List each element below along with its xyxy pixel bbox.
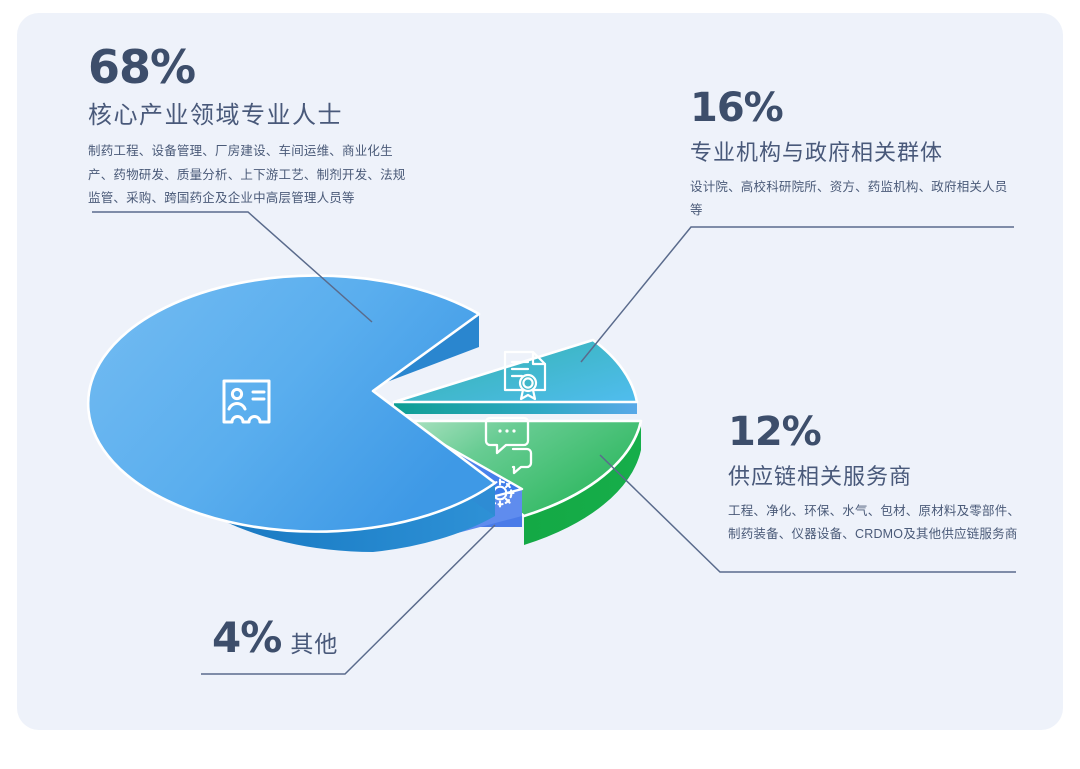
callout-other: 4% 其他 bbox=[212, 617, 338, 659]
segment-description-68: 制药工程、设备管理、厂房建设、车间运维、商业化生产、药物研发、质量分析、上下游工… bbox=[88, 140, 408, 209]
segment-heading-68: 核心产业领域专业人士 bbox=[88, 100, 408, 132]
segment-heading-12: 供应链相关服务商 bbox=[728, 462, 1028, 492]
percent-value-4: 4% bbox=[212, 617, 281, 659]
callout-core-industry: 68% 核心产业领域专业人士 制药工程、设备管理、厂房建设、车间运维、商业化生产… bbox=[88, 44, 408, 210]
segment-description-12: 工程、净化、环保、水气、包材、原材料及零部件、制药装备、仪器设备、CRDMO及其… bbox=[728, 500, 1028, 546]
infographic-stage: 68% 核心产业领域专业人士 制药工程、设备管理、厂房建设、车间运维、商业化生产… bbox=[0, 0, 1080, 769]
percent-value-68: 68% bbox=[88, 44, 408, 90]
callout-supply-chain: 12% 供应链相关服务商 工程、净化、环保、水气、包材、原材料及零部件、制药装备… bbox=[728, 412, 1028, 546]
segment-heading-4: 其他 bbox=[290, 625, 338, 659]
segment-description-16: 设计院、高校科研院所、资方、药监机构、政府相关人员等 bbox=[690, 176, 1010, 222]
percent-value-12: 12% bbox=[728, 412, 1028, 452]
segment-heading-16: 专业机构与政府相关群体 bbox=[690, 138, 1010, 168]
percent-value-16: 16% bbox=[690, 88, 1010, 128]
callout-institutions: 16% 专业机构与政府相关群体 设计院、高校科研院所、资方、药监机构、政府相关人… bbox=[690, 88, 1010, 222]
